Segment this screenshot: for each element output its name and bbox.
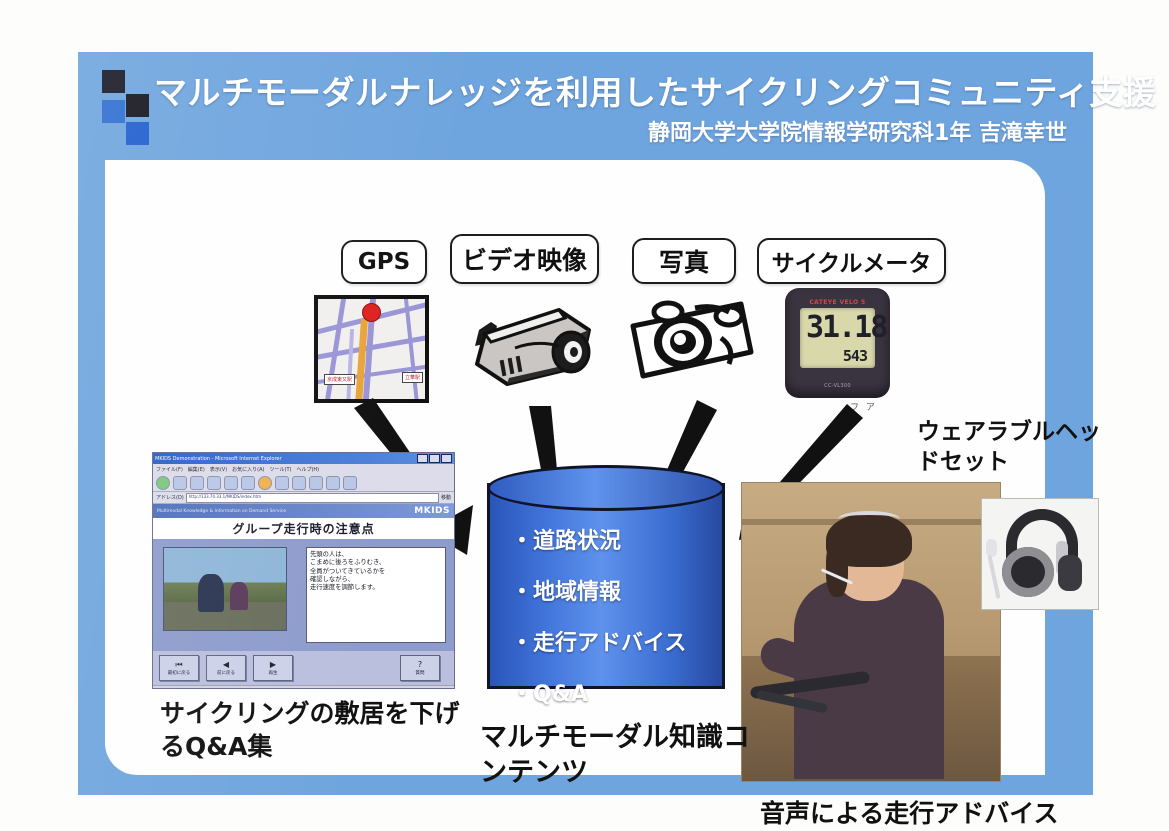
knowledge-database-cylinder: ・道路状況 ・地域情報 ・走行アドバイス ・Q&A bbox=[487, 465, 725, 705]
stop-icon[interactable] bbox=[190, 476, 204, 490]
content-stage: 先頭の人は、 こまめに後ろをふりむき、 全員がついてきているかを 確認しながら、… bbox=[153, 539, 454, 651]
video-player[interactable] bbox=[163, 547, 287, 631]
poster-author: 静岡大学大学院情報学研究科1年 吉滝幸世 bbox=[648, 115, 1067, 147]
refresh-icon[interactable] bbox=[207, 476, 221, 490]
cyclometer-model: CC-VL300 bbox=[785, 383, 890, 389]
cyclometer-caption: フ ア bbox=[850, 400, 877, 413]
history-icon[interactable] bbox=[292, 476, 306, 490]
browser-addressbar: アドレス(D) http://133.70.33.1/MKIDS/index.h… bbox=[153, 492, 454, 504]
caption-wearable-headset: ウェアラブルヘッドセット bbox=[917, 418, 1107, 478]
play-button[interactable]: ▶ 再生 bbox=[253, 655, 293, 681]
edit-icon[interactable] bbox=[343, 476, 357, 490]
cyclist-photo bbox=[741, 482, 1001, 782]
question-button[interactable]: ? 質問 bbox=[400, 655, 440, 681]
play-label: 再生 bbox=[269, 670, 278, 676]
previous-label: 前に戻る bbox=[217, 670, 235, 676]
cyclometer-brand: CATEYE VELO 5 bbox=[785, 299, 890, 306]
menu-help[interactable]: ヘルプ(H) bbox=[296, 466, 319, 473]
cylinder-item-qa: ・Q&A bbox=[511, 676, 721, 708]
print-icon[interactable] bbox=[326, 476, 340, 490]
site-header: Multimodal Knowledge & Information on De… bbox=[153, 504, 454, 518]
home-icon[interactable] bbox=[224, 476, 238, 490]
content-sheet: GPS ビデオ映像 写真 サイクルメータ 京成東又駅 立華駅 bbox=[105, 160, 1045, 775]
source-label-video: ビデオ映像 bbox=[450, 234, 599, 284]
poster-title: マルチモーダルナレッジを利用したサイクリングコミュニティ支援 bbox=[154, 66, 1081, 114]
question-mark-icon: ? bbox=[418, 661, 422, 669]
maximize-button[interactable] bbox=[429, 454, 440, 463]
map-thumbnail-icon: 京成東又駅 立華駅 bbox=[314, 295, 429, 403]
browser-window-title: MKIDS Demonstration - Microsoft Internet… bbox=[155, 456, 416, 462]
mail-icon[interactable] bbox=[309, 476, 323, 490]
menu-view[interactable]: 表示(V) bbox=[210, 466, 227, 473]
menu-favorites[interactable]: お気に入り(A) bbox=[232, 466, 264, 473]
address-input[interactable]: http://133.70.33.1/MKIDS/index.htm bbox=[186, 493, 439, 503]
browser-screenshot: MKIDS Demonstration - Microsoft Internet… bbox=[152, 452, 455, 689]
source-label-cyclometer: サイクルメータ bbox=[757, 238, 946, 284]
page-title: グループ走行時の注意点 bbox=[153, 518, 454, 539]
browser-menubar: ファイル(F) 編集(E) 表示(V) お気に入り(A) ツール(T) ヘルプ(… bbox=[153, 464, 454, 474]
address-label: アドレス(D) bbox=[156, 494, 184, 501]
restart-button[interactable]: ⏮ 最初に戻る bbox=[159, 655, 199, 681]
site-subtitle: Multimodal Knowledge & Information on De… bbox=[157, 509, 286, 514]
close-button[interactable] bbox=[441, 454, 452, 463]
browser-titlebar: MKIDS Demonstration - Microsoft Internet… bbox=[153, 453, 454, 464]
cycle-computer-icon: CATEYE VELO 5 31.18 543 CC-VL300 bbox=[785, 288, 890, 398]
question-label: 質問 bbox=[416, 670, 425, 676]
source-label-gps: GPS bbox=[341, 240, 427, 284]
cylinder-item-road: ・道路状況 bbox=[511, 523, 721, 555]
poster-frame: マルチモーダルナレッジを利用したサイクリングコミュニティ支援 静岡大学大学院情報… bbox=[78, 52, 1093, 795]
previous-button[interactable]: ◀ 前に戻る bbox=[206, 655, 246, 681]
browser-toolbar bbox=[153, 474, 454, 492]
cyclometer-secondary-value: 543 bbox=[843, 347, 867, 365]
advice-text-panel: 先頭の人は、 こまめに後ろをふりむき、 全員がついてきているかを 確認しながら、… bbox=[306, 547, 446, 643]
menu-file[interactable]: ファイル(F) bbox=[156, 466, 183, 473]
source-label-photo: 写真 bbox=[632, 238, 736, 284]
cyclometer-lcd: 31.18 543 bbox=[800, 308, 875, 368]
back-icon[interactable] bbox=[156, 476, 170, 490]
map-station-label-1: 京成東又駅 bbox=[324, 374, 355, 385]
forward-icon[interactable] bbox=[173, 476, 187, 490]
browser-statusbar: インターネット bbox=[153, 685, 454, 689]
go-button[interactable]: 移動 bbox=[441, 494, 451, 501]
menu-edit[interactable]: 編集(E) bbox=[188, 466, 205, 473]
camcorder-icon bbox=[463, 288, 598, 398]
favorites-icon[interactable] bbox=[258, 476, 272, 490]
skip-back-icon: ⏮ bbox=[175, 661, 182, 669]
search-icon[interactable] bbox=[241, 476, 255, 490]
title-band: マルチモーダルナレッジを利用したサイクリングコミュニティ支援 静岡大学大学院情報… bbox=[78, 52, 1093, 160]
decorative-squares-icon bbox=[102, 70, 156, 148]
cyclometer-primary-value: 31.18 bbox=[806, 310, 886, 345]
map-station-label-2: 立華駅 bbox=[402, 372, 423, 383]
cylinder-content-list: ・道路状況 ・地域情報 ・走行アドバイス ・Q&A bbox=[511, 523, 721, 727]
map-marker-icon bbox=[362, 303, 381, 322]
minimize-button[interactable] bbox=[417, 454, 428, 463]
play-icon: ▶ bbox=[270, 661, 276, 669]
cylinder-item-advice: ・走行アドバイス bbox=[511, 625, 721, 657]
player-controls: ⏮ 最初に戻る ◀ 前に戻る ▶ 再生 ? 質問 bbox=[153, 651, 454, 685]
caption-knowledge-content: マルチモーダル知識コンテンツ bbox=[480, 720, 760, 790]
cylinder-item-region: ・地域情報 bbox=[511, 574, 721, 606]
media-icon[interactable] bbox=[275, 476, 289, 490]
menu-tools[interactable]: ツール(T) bbox=[270, 466, 292, 473]
headset-photo bbox=[981, 498, 1099, 610]
photo-camera-icon bbox=[625, 290, 755, 385]
status-text: インターネット bbox=[422, 688, 450, 690]
restart-label: 最初に戻る bbox=[168, 670, 191, 676]
caption-qa-collection: サイクリングの敷居を下げるQ&A集 bbox=[160, 698, 460, 763]
prev-icon: ◀ bbox=[223, 661, 229, 669]
site-logo: MKIDS bbox=[414, 506, 450, 516]
